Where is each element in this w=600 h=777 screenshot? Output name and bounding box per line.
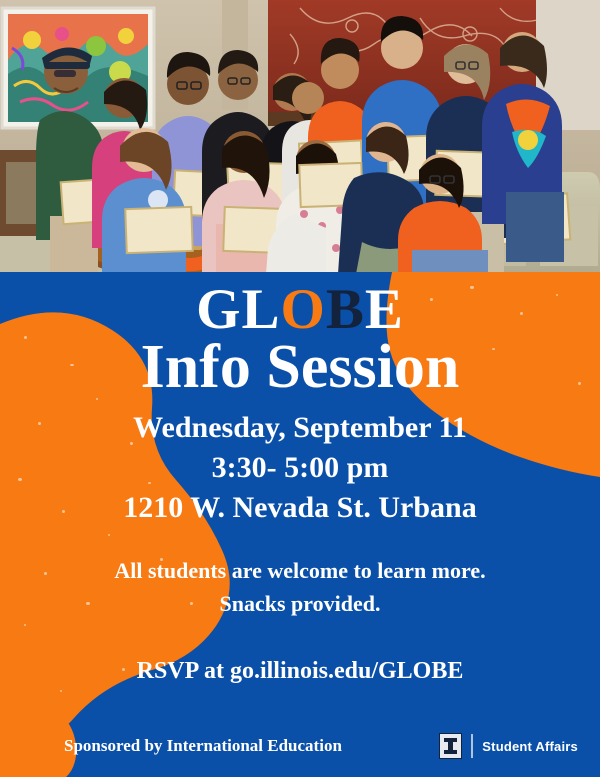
block-i-icon — [439, 733, 462, 759]
event-details: Wednesday, September 11 3:30- 5:00 pm 12… — [0, 408, 600, 528]
block-i-glyph — [443, 737, 458, 755]
brand-lockup: Student Affairs — [439, 733, 578, 759]
welcome-line-2: Snacks provided. — [0, 587, 600, 620]
event-time: 3:30- 5:00 pm — [0, 448, 600, 488]
title-part-b: B — [326, 278, 365, 341]
title-part-o: O — [280, 278, 325, 341]
event-date: Wednesday, September 11 — [0, 408, 600, 448]
page-subtitle: Info Session — [0, 334, 600, 400]
welcome-message: All students are welcome to learn more. … — [0, 554, 600, 620]
rsvp-link[interactable]: RSVP at go.illinois.edu/GLOBE — [0, 656, 600, 686]
footer: Sponsored by International Education Stu… — [0, 733, 600, 759]
flyer-content: GLOBE Info Session Wednesday, September … — [0, 272, 600, 777]
sponsor-text: Sponsored by International Education — [64, 736, 342, 756]
event-location: 1210 W. Nevada St. Urbana — [0, 488, 600, 528]
brand-label: Student Affairs — [482, 739, 578, 754]
group-photo — [0, 0, 600, 274]
page-title: GLOBE — [0, 280, 600, 340]
group-photo-illustration — [0, 0, 600, 274]
welcome-line-1: All students are welcome to learn more. — [0, 554, 600, 587]
brand-divider — [471, 734, 473, 758]
title-part-e: E — [365, 278, 404, 341]
poster-root: GLOBE Info Session Wednesday, September … — [0, 0, 600, 777]
title-part-gl: GL — [196, 278, 280, 341]
